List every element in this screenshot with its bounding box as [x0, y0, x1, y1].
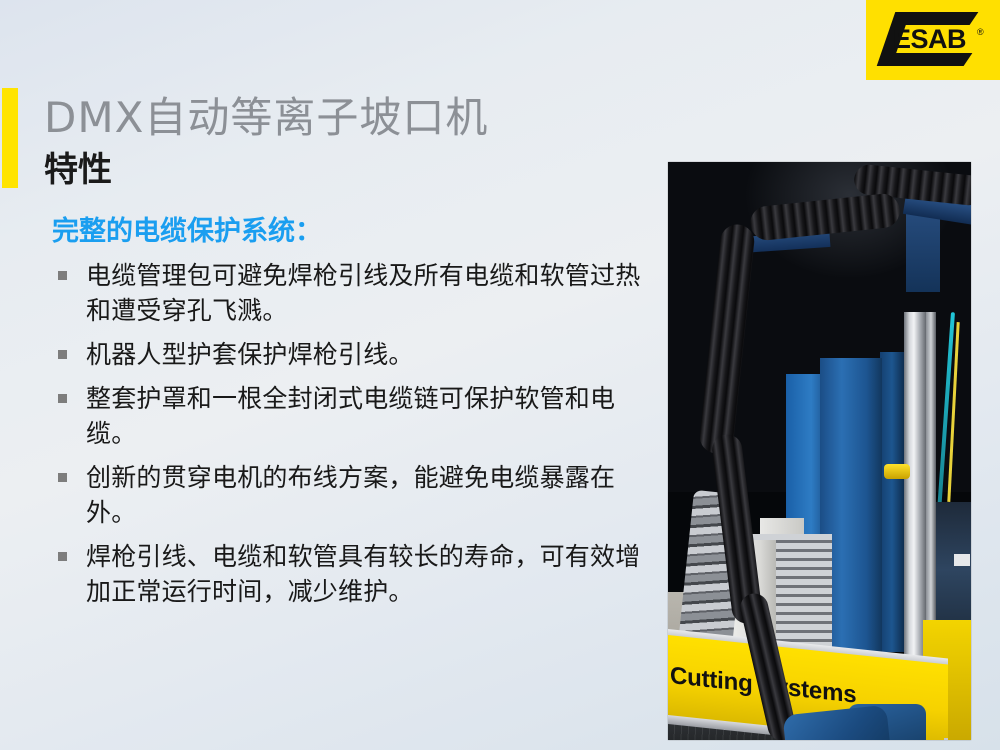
- square-bullet-icon: [58, 394, 67, 403]
- list-item-text: 创新的贯穿电机的布线方案，能避免电缆暴露在外。: [86, 463, 615, 527]
- product-photo: Cutting Systems: [668, 162, 971, 740]
- square-bullet-icon: [58, 350, 67, 359]
- product-photo-scene: Cutting Systems: [668, 162, 971, 740]
- square-bullet-icon: [58, 473, 67, 482]
- list-item: 机器人型护套保护焊枪引线。: [44, 337, 664, 372]
- list-item: 焊枪引线、电缆和软管具有较长的寿命，可有效增加正常运行时间，减少维护。: [44, 539, 664, 609]
- page-subtitle: 特性: [44, 148, 112, 192]
- square-bullet-icon: [58, 552, 67, 561]
- logo-bar-bottom: [886, 53, 973, 66]
- esab-logo: ESAB ®: [866, 0, 1000, 80]
- list-item-text: 焊枪引线、电缆和软管具有较长的寿命，可有效增加正常运行时间，减少维护。: [86, 542, 640, 606]
- photo-electronics-label: [954, 554, 970, 566]
- list-item: 电缆管理包可避免焊枪引线及所有电缆和软管过热和遭受穿孔飞溅。: [44, 258, 664, 328]
- list-item-text: 机器人型护套保护焊枪引线。: [86, 340, 414, 369]
- list-item: 创新的贯穿电机的布线方案，能避免电缆暴露在外。: [44, 460, 664, 530]
- esab-logo-mark: ESAB ®: [880, 9, 988, 71]
- feature-bullet-list: 电缆管理包可避免焊枪引线及所有电缆和软管过热和遭受穿孔飞溅。 机器人型护套保护焊…: [44, 258, 664, 609]
- logo-wordmark: ESAB: [893, 24, 966, 54]
- title-accent-bar: [2, 88, 18, 188]
- slide-canvas: ESAB ® DMX自动等离子坡口机 特性 完整的电缆保护系统： 电缆管理包可避…: [0, 0, 1000, 750]
- list-item: 整套护罩和一根全封闭式电缆链可保护软管和电缆。: [44, 381, 664, 451]
- photo-yellow-connector: [884, 464, 910, 479]
- photo-blue-plate: [880, 352, 904, 652]
- list-item-text: 整套护罩和一根全封闭式电缆链可保护软管和电缆。: [86, 384, 615, 448]
- page-title: DMX自动等离子坡口机: [44, 92, 488, 144]
- section-heading: 完整的电缆保护系统：: [52, 214, 664, 250]
- registered-trademark-icon: ®: [977, 27, 984, 37]
- list-item-text: 电缆管理包可避免焊枪引线及所有电缆和软管过热和遭受穿孔飞溅。: [86, 261, 640, 325]
- square-bullet-icon: [58, 271, 67, 280]
- content-area: 完整的电缆保护系统： 电缆管理包可避免焊枪引线及所有电缆和软管过热和遭受穿孔飞溅…: [44, 214, 664, 618]
